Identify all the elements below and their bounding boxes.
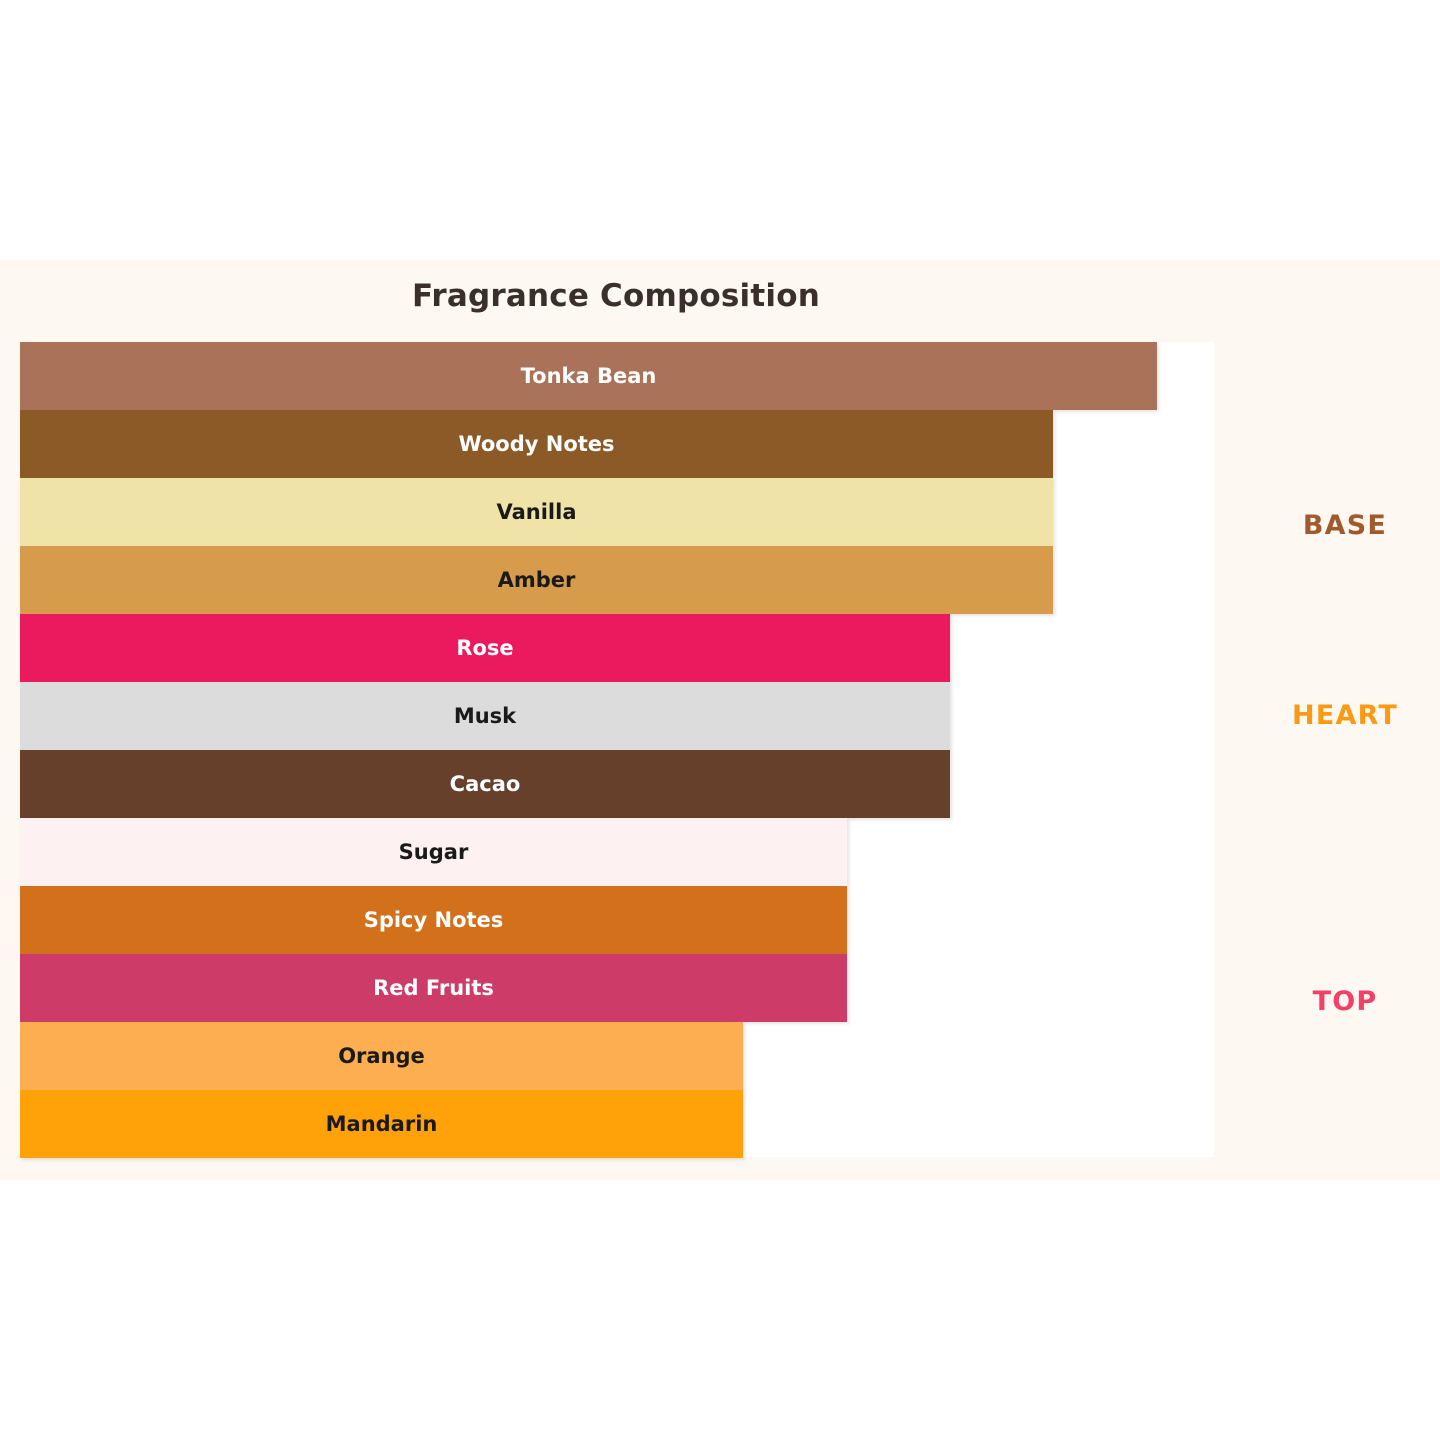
bar-orange[interactable] (20, 1022, 743, 1090)
bar-row: Orange (20, 1022, 1214, 1090)
bar-row: Rose (20, 614, 1214, 682)
group-label-base: BASE (1260, 510, 1430, 541)
bar-vanilla[interactable] (20, 478, 1053, 546)
bar-rose[interactable] (20, 614, 950, 682)
chart-figure: Fragrance Composition Tonka BeanWoody No… (0, 260, 1440, 1180)
bar-row: Spicy Notes (20, 886, 1214, 954)
bar-amber[interactable] (20, 546, 1053, 614)
plot-area: Tonka BeanWoody NotesVanillaAmberRoseMus… (20, 342, 1214, 1157)
bar-row: Sugar (20, 818, 1214, 886)
bar-row: Vanilla (20, 478, 1214, 546)
bar-red-fruits[interactable] (20, 954, 847, 1022)
bar-row: Amber (20, 546, 1214, 614)
group-label-heart: HEART (1260, 700, 1430, 731)
bar-sugar[interactable] (20, 818, 847, 886)
page-title: Fragrance Composition (0, 278, 1232, 314)
bar-row: Tonka Bean (20, 342, 1214, 410)
bar-row: Musk (20, 682, 1214, 750)
bar-row: Woody Notes (20, 410, 1214, 478)
group-label-top: TOP (1260, 986, 1430, 1017)
bar-tonka-bean[interactable] (20, 342, 1157, 410)
bar-row: Mandarin (20, 1090, 1214, 1158)
bar-musk[interactable] (20, 682, 950, 750)
bar-spicy-notes[interactable] (20, 886, 847, 954)
bar-woody-notes[interactable] (20, 410, 1053, 478)
bar-mandarin[interactable] (20, 1090, 743, 1158)
bar-cacao[interactable] (20, 750, 950, 818)
bar-row: Red Fruits (20, 954, 1214, 1022)
bar-row: Cacao (20, 750, 1214, 818)
